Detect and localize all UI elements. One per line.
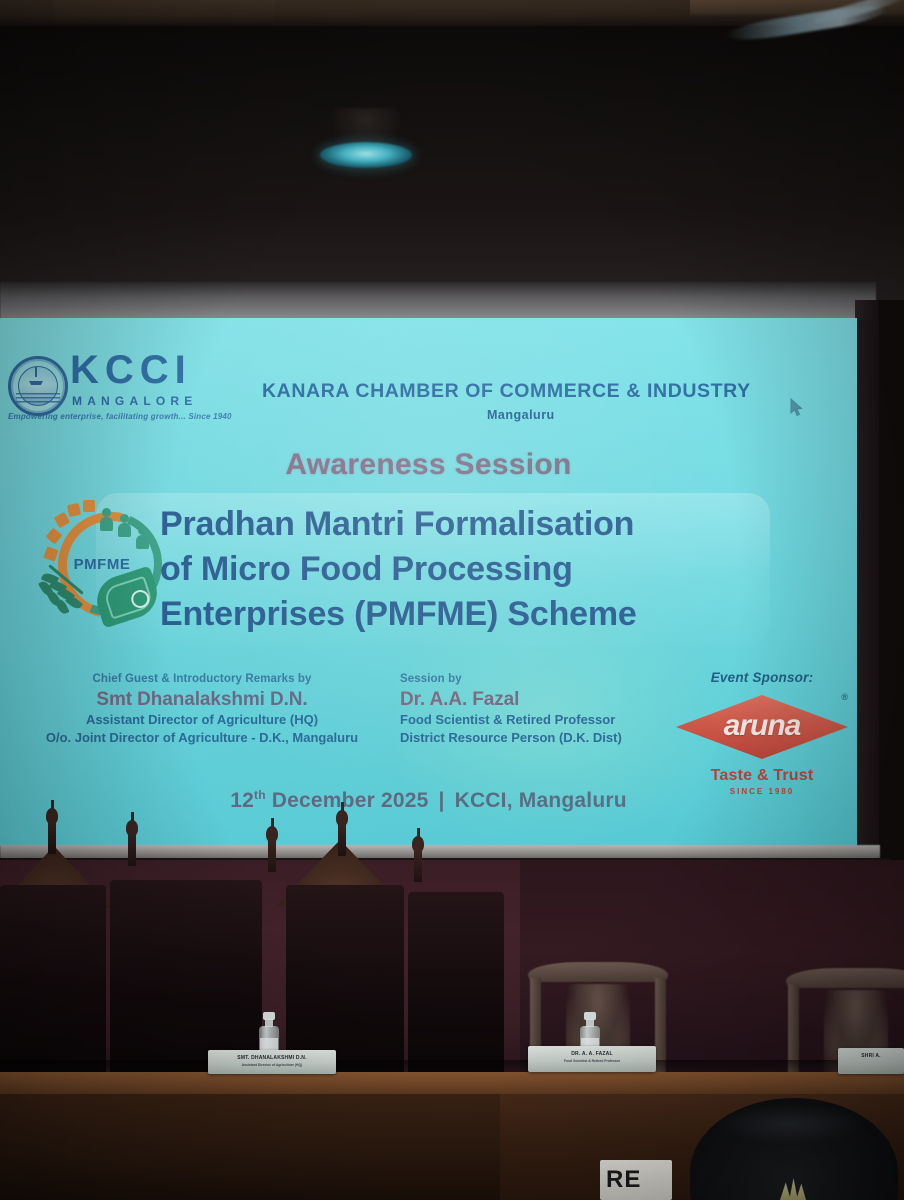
kcci-city-label: MANGALORE — [72, 394, 197, 408]
event-type-label: Awareness Session — [0, 448, 857, 482]
event-date-ordinal: th — [254, 788, 266, 802]
chief-guest-role: Chief Guest & Introductory Remarks by — [8, 673, 396, 685]
slide-header: KCCI MANGALORE Empowering enterprise, fa… — [0, 336, 857, 420]
chair-finial-3 — [264, 818, 280, 872]
chief-guest-name: Smt Dhanalakshmi D.N. — [8, 689, 396, 711]
nameplate-left-name: SMT. DHANALAKSHMI D.N. — [208, 1055, 336, 1062]
head-table-front-left — [0, 1094, 500, 1200]
session-speaker-block: Session by Dr. A.A. Fazal Food Scientist… — [400, 673, 675, 747]
nameplate-right: DR. A. A. FAZAL Food Scientist & Retired… — [528, 1046, 656, 1072]
nameplate-right-name: DR. A. A. FAZAL — [528, 1051, 656, 1058]
chair-finial-2 — [124, 812, 140, 866]
kcci-tagline: Empowering enterprise, facilitating grow… — [8, 412, 232, 421]
kcci-seal-icon — [8, 356, 68, 416]
aruna-tagline: Taste & Trust — [672, 767, 852, 785]
event-sponsor-block: Event Sponsor: aruna ® Taste & Trust SIN… — [672, 670, 852, 796]
projected-slide: KCCI MANGALORE Empowering enterprise, fa… — [0, 318, 857, 846]
slide-title-line-2: of Micro Food Processing — [160, 547, 850, 592]
organisation-title: KANARA CHAMBER OF COMMERCE & INDUSTRY — [262, 380, 751, 403]
audience-head-highlight — [716, 1104, 866, 1144]
kcci-wordmark: KCCI — [70, 350, 192, 390]
projector-lens-icon — [320, 142, 412, 168]
mouse-pointer-icon — [790, 398, 803, 417]
nameplate-right-sub: Food Scientist & Retired Professor — [528, 1059, 656, 1064]
pmfme-people-icon — [98, 506, 160, 554]
aruna-brand-name: aruna — [676, 709, 848, 743]
pmfme-wheat-icon — [40, 572, 98, 630]
registered-trademark-icon: ® — [841, 692, 848, 702]
nameplate-left: SMT. DHANALAKSHMI D.N. Assistant Directo… — [208, 1050, 336, 1074]
projection-screen-top-bar — [0, 282, 876, 320]
organisation-city: Mangaluru — [487, 408, 555, 422]
slide-title-line-1: Pradhan Mantri Formalisation — [160, 502, 850, 547]
session-speaker-designation: Food Scientist & Retired Professor — [400, 711, 675, 729]
event-venue: KCCI, Mangaluru — [455, 789, 627, 812]
projection-screen-right-edge — [855, 300, 879, 860]
ceiling — [0, 0, 904, 300]
session-speaker-role: Session by — [400, 673, 675, 685]
nameplate-far-right-name: SHRI A. — [838, 1053, 904, 1060]
chief-guest-block: Chief Guest & Introductory Remarks by Sm… — [8, 673, 396, 747]
high-back-chair-1 — [0, 885, 106, 1075]
session-speaker-role-2: District Resource Person (D.K. Dist) — [400, 729, 675, 747]
event-sponsor-label: Event Sponsor: — [672, 670, 852, 685]
head-table-top — [0, 1072, 904, 1096]
chair-finial-4 — [334, 802, 350, 856]
high-back-chair-4 — [408, 892, 504, 1076]
pmfme-logo: PMFME — [38, 500, 166, 638]
nameplate-left-sub: Assistant Director of Agriculture (HQ) — [208, 1063, 336, 1068]
slide-title: Pradhan Mantri Formalisation of Micro Fo… — [160, 502, 850, 637]
foreground-sign: RE — [600, 1160, 672, 1200]
foreground-sign-text: RE — [606, 1166, 641, 1194]
aruna-logo: aruna — [676, 695, 848, 759]
chief-guest-office: O/o. Joint Director of Agriculture - D.K… — [8, 729, 396, 747]
footer-separator: | — [429, 789, 455, 812]
high-back-chair-3 — [286, 885, 404, 1075]
session-speaker-name: Dr. A.A. Fazal — [400, 689, 675, 711]
event-date-number: 12 — [230, 789, 254, 812]
slide-title-line-3: Enterprises (PMFME) Scheme — [160, 592, 850, 637]
nameplate-far-right: SHRI A. — [838, 1048, 904, 1074]
high-back-chair-2 — [110, 880, 262, 1076]
kcci-logo: KCCI MANGALORE Empowering enterprise, fa… — [8, 346, 222, 424]
conference-hall-screenshot: KCCI MANGALORE Empowering enterprise, fa… — [0, 0, 904, 1200]
slide-footer: 12th December 2025|KCCI, Mangaluru — [0, 788, 857, 813]
chair-finial-1 — [44, 800, 60, 854]
chief-guest-designation: Assistant Director of Agriculture (HQ) — [8, 711, 396, 729]
chair-finial-5 — [410, 828, 426, 882]
